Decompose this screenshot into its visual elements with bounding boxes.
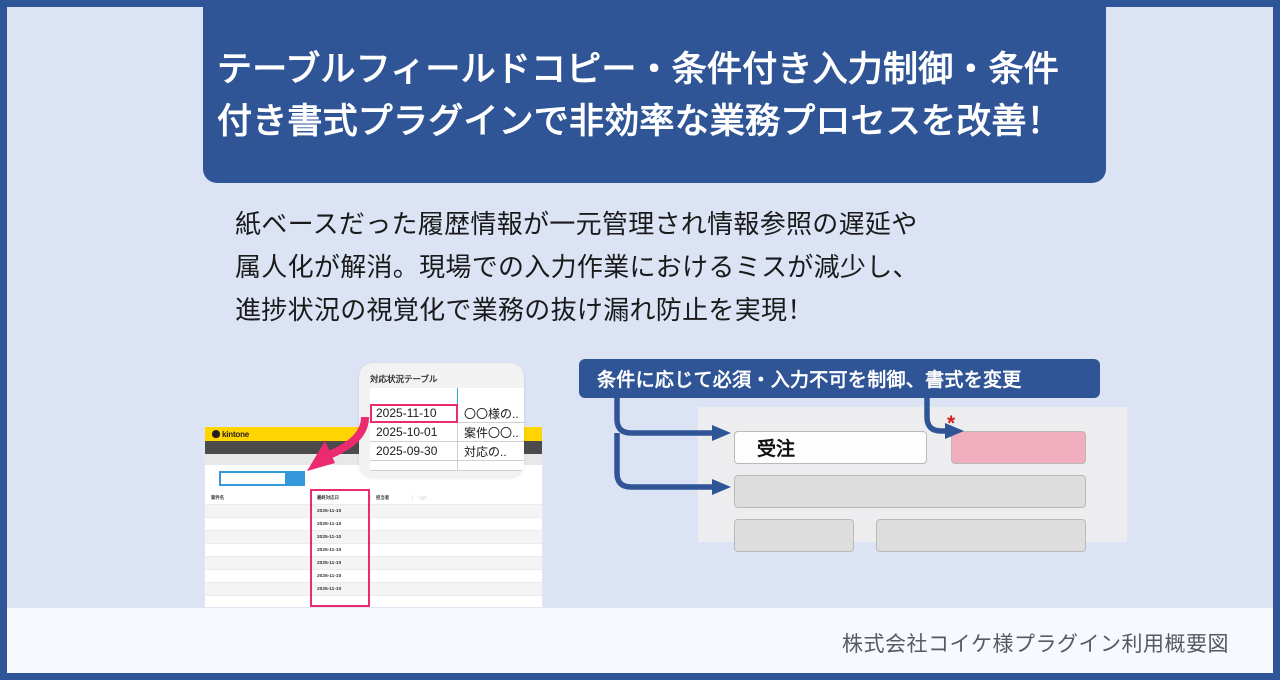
form-panel: 受注 * [698,407,1127,542]
right-diagram: 条件に応じて必須・入力不可を制御、書式を変更 受注 * [579,359,1127,599]
column-header-other: ○△□ [412,495,542,501]
kintone-logo: kintone [212,430,249,439]
column-header-last-response-date: 最終対応日 [310,495,370,501]
popup-cell-date: 2025-09-30 [370,442,458,461]
left-diagram: kintone 案件名 最終対応日 担当者 ○△□ [197,355,542,607]
popup-table: 対応日 対応内容 2025-11-10 〇〇様の.. 2025-10-01 案件… [370,388,524,471]
required-field[interactable] [951,431,1086,464]
popup-column-header-date: 対応日 [370,388,458,404]
cell-last-response-date: 2025-11-10 [310,535,370,540]
table-row[interactable]: 2025-11-10 [205,531,542,544]
footer-caption: 株式会社コイケ様プラグイン利用概要図 [842,628,1229,658]
table-row[interactable]: 2025-11-10 [205,544,542,557]
popup-table-row[interactable]: 2025-10-01 案件〇〇.. [370,423,524,442]
search-input[interactable] [219,471,287,486]
column-header-owner: 担当者 [370,495,412,501]
table-row[interactable]: 2025-11-10 [205,583,542,596]
popup-table-row[interactable]: 2025-09-30 対応の.. [370,442,524,461]
table-row[interactable]: 2025-11-10 [205,518,542,531]
popup-cell-date: 2025-10-01 [370,423,458,442]
table-row[interactable]: 2025-11-10 [205,557,542,570]
poster-canvas: テーブルフィールドコピー・条件付き入力制御・条件 付き書式プラグインで非効率な業… [7,7,1273,608]
popup-table-header-row: 対応日 対応内容 [370,388,524,404]
page-title: テーブルフィールドコピー・条件付き入力制御・条件 付き書式プラグインで非効率な業… [203,44,1076,147]
status-field[interactable]: 受注 [734,431,927,464]
popup-cell-content: 対応の.. [458,442,524,461]
column-header-case-name: 案件名 [205,495,310,501]
popup-table-row-empty [370,461,524,471]
popup-cell-content: 案件〇〇.. [458,423,524,442]
copy-flow-arrow-icon [295,415,375,477]
popup-table-row[interactable]: 2025-11-10 〇〇様の.. [370,404,524,423]
cell-last-response-date: 2025-11-10 [310,509,370,514]
disabled-field-small[interactable] [734,519,854,552]
disabled-field-wide[interactable] [734,475,1086,508]
popup-title: 対応状況テーブル [370,373,438,385]
popup-column-header-content: 対応内容 [458,388,524,404]
cell-last-response-date: 2025-11-10 [310,574,370,579]
title-banner: テーブルフィールドコピー・条件付き入力制御・条件 付き書式プラグインで非効率な業… [203,0,1106,183]
response-status-table-popup: 対応状況テーブル 対応日 対応内容 2025-11-10 〇〇様の.. 2025… [359,363,524,477]
table-row[interactable]: 2025-11-10 [205,570,542,583]
cell-last-response-date: 2025-11-10 [310,522,370,527]
table-header-row: 案件名 最終対応日 担当者 ○△□ [205,491,542,505]
condition-banner-label: 条件に応じて必須・入力不可を制御、書式を変更 [579,365,1022,392]
kintone-record-table: 案件名 最終対応日 担当者 ○△□ 2025-11-10 2025-11-10 [205,491,542,607]
kintone-logo-icon [212,430,220,438]
footer-band: 株式会社コイケ様プラグイン利用概要図 [7,608,1273,673]
cell-last-response-date: 2025-11-10 [310,587,370,592]
popup-cell-content: 〇〇様の.. [458,404,524,423]
cell-last-response-date: 2025-11-10 [310,561,370,566]
table-row[interactable]: 2025-11-10 [205,505,542,518]
condition-banner: 条件に応じて必須・入力不可を制御、書式を変更 [579,359,1100,398]
disabled-field-medium[interactable] [876,519,1086,552]
subtitle-text: 紙ベースだった履歴情報が一元管理され情報参照の遅延や 属人化が解消。現場での入力… [235,203,919,332]
kintone-logo-label: kintone [222,430,249,439]
popup-cell-date: 2025-11-10 [370,404,458,423]
poster-page: テーブルフィールドコピー・条件付き入力制御・条件 付き書式プラグインで非効率な業… [0,0,1280,680]
cell-last-response-date: 2025-11-10 [310,548,370,553]
